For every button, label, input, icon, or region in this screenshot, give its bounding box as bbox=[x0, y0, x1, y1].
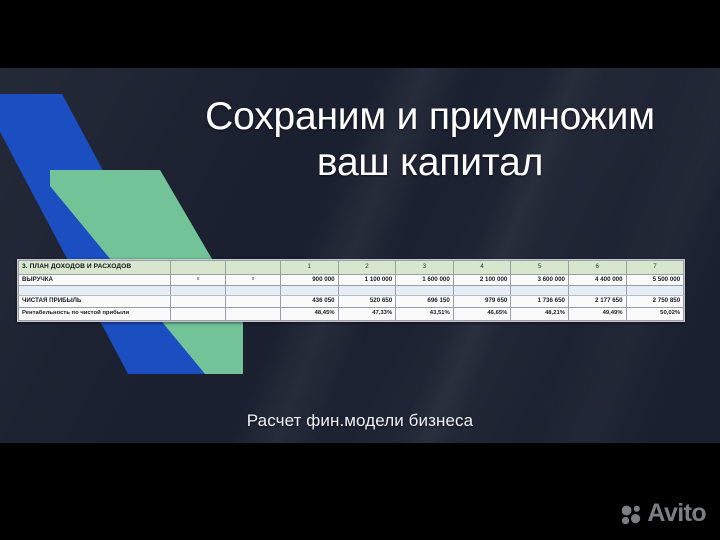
net-profit-value-4: 979 650 bbox=[453, 295, 511, 308]
net-margin-value-3: 43,51% bbox=[396, 308, 454, 321]
empty-cell bbox=[226, 308, 281, 321]
net-profit-value-6: 2 177 650 bbox=[568, 295, 626, 308]
column-header-8: 8 bbox=[684, 261, 685, 275]
column-header-4: 4 bbox=[453, 261, 511, 275]
slide-caption: Расчет фин.модели бизнеса bbox=[0, 411, 720, 431]
spacer-cell bbox=[626, 286, 684, 295]
net-profit-value-5: 1 736 650 bbox=[511, 295, 569, 308]
column-header-1: 1 bbox=[281, 261, 339, 275]
net-margin-value-5: 48,21% bbox=[511, 308, 569, 321]
spacer-cell bbox=[396, 286, 454, 295]
net-margin-value-7: 50,02% bbox=[626, 308, 684, 321]
table-row-net-profit: ЧИСТАЯ ПРИБЫЛЬ 436 050 520 650 696 150 9… bbox=[19, 295, 686, 308]
table-header-row: 3. ПЛАН ДОХОДОВ И РАСХОДОВ 1 2 3 4 5 6 7… bbox=[19, 261, 686, 275]
revenue-value-8: 6 600 000 bbox=[684, 274, 685, 286]
column-header-7: 7 bbox=[626, 261, 684, 275]
avito-dots-icon bbox=[620, 503, 642, 525]
row-label-net-profit: ЧИСТАЯ ПРИБЫЛЬ bbox=[19, 295, 171, 308]
spacer-cell bbox=[19, 286, 171, 295]
x-mark-cell: x bbox=[226, 274, 281, 286]
column-header-2: 2 bbox=[338, 261, 396, 275]
spacer-cell bbox=[568, 286, 626, 295]
spacer-cell bbox=[171, 286, 226, 295]
header-blank-cell bbox=[171, 261, 226, 275]
net-margin-value-1: 48,45% bbox=[281, 308, 339, 321]
revenue-value-1: 900 000 bbox=[281, 274, 339, 286]
net-profit-value-2: 520 650 bbox=[338, 295, 396, 308]
revenue-value-5: 3 600 000 bbox=[511, 274, 569, 286]
net-profit-value-7: 2 750 850 bbox=[626, 295, 684, 308]
net-margin-value-6: 49,49% bbox=[568, 308, 626, 321]
section-title-cell: 3. ПЛАН ДОХОДОВ И РАСХОДОВ bbox=[19, 261, 171, 275]
x-mark-cell: x bbox=[171, 274, 226, 286]
net-profit-value-1: 436 050 bbox=[281, 295, 339, 308]
empty-cell bbox=[171, 295, 226, 308]
spacer-cell bbox=[684, 286, 685, 295]
empty-cell bbox=[226, 295, 281, 308]
avito-wordmark: Avito bbox=[647, 501, 706, 526]
table-spacer-row bbox=[19, 286, 686, 295]
revenue-value-6: 4 400 000 bbox=[568, 274, 626, 286]
headline-line-1: Сохраним и приумножим bbox=[205, 95, 655, 138]
revenue-value-4: 2 100 000 bbox=[453, 274, 511, 286]
revenue-value-3: 1 600 000 bbox=[396, 274, 454, 286]
net-margin-value-8: 50,37% bbox=[684, 308, 685, 321]
screenshot-root: Сохраним и приумножим ваш капитал 3. ПЛА… bbox=[0, 0, 720, 540]
net-margin-value-2: 47,33% bbox=[338, 308, 396, 321]
spacer-cell bbox=[511, 286, 569, 295]
header-blank-cell bbox=[226, 261, 281, 275]
page-title: Сохраним и приумножим ваш капитал bbox=[150, 94, 710, 185]
table-row-revenue: ВЫРУЧКА x x 900 000 1 100 000 1 600 000 … bbox=[19, 274, 686, 286]
revenue-value-7: 5 500 000 bbox=[626, 274, 684, 286]
spacer-cell bbox=[281, 286, 339, 295]
row-label-net-margin: Рентабельность по чистой прибыли bbox=[19, 308, 171, 321]
column-header-6: 6 bbox=[568, 261, 626, 275]
spacer-cell bbox=[453, 286, 511, 295]
spacer-cell bbox=[226, 286, 281, 295]
headline-line-2: ваш капитал bbox=[150, 140, 710, 186]
promo-slide: Сохраним и приумножим ваш капитал 3. ПЛА… bbox=[0, 68, 720, 443]
net-margin-value-4: 46,65% bbox=[453, 308, 511, 321]
net-profit-value-8: 3 324 150 bbox=[684, 295, 685, 308]
financial-model-table: 3. ПЛАН ДОХОДОВ И РАСХОДОВ 1 2 3 4 5 6 7… bbox=[17, 259, 685, 322]
revenue-value-2: 1 100 000 bbox=[338, 274, 396, 286]
empty-cell bbox=[171, 308, 226, 321]
row-label-revenue: ВЫРУЧКА bbox=[19, 274, 171, 286]
net-profit-value-3: 696 150 bbox=[396, 295, 454, 308]
spacer-cell bbox=[338, 286, 396, 295]
column-header-5: 5 bbox=[511, 261, 569, 275]
income-expense-table: 3. ПЛАН ДОХОДОВ И РАСХОДОВ 1 2 3 4 5 6 7… bbox=[18, 260, 685, 321]
table-row-net-margin: Рентабельность по чистой прибыли 48,45% … bbox=[19, 308, 686, 321]
avito-watermark: Avito bbox=[620, 501, 706, 526]
column-header-3: 3 bbox=[396, 261, 454, 275]
